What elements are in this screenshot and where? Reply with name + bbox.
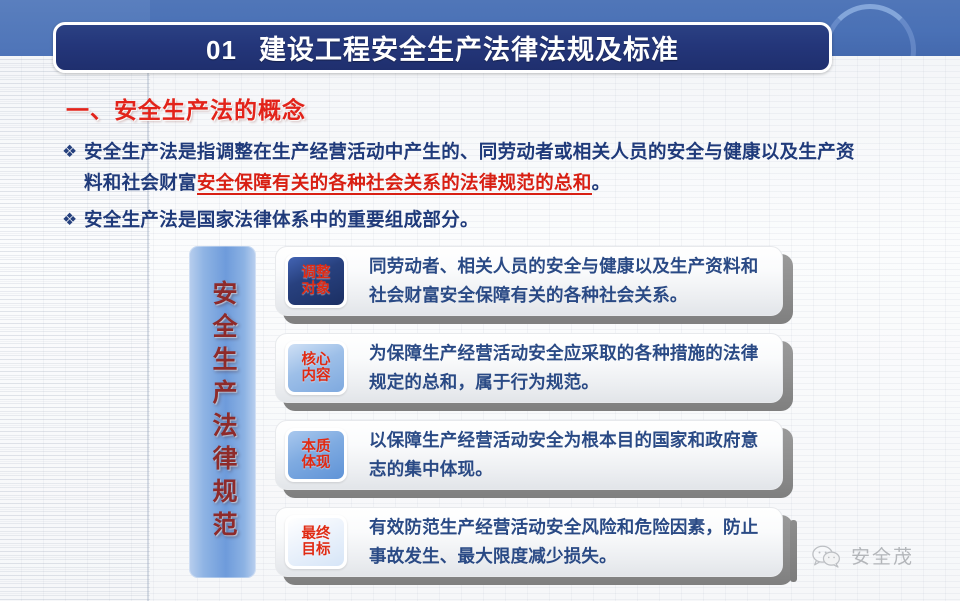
right-edge-strip — [790, 520, 797, 582]
row-badge-line2: 目标 — [302, 542, 331, 558]
row-badge: 调整 对象 — [288, 257, 344, 305]
page-title: 01建设工程安全生产法律法规及标准 — [206, 28, 679, 67]
bullet-text: 安全生产法是指调整在生产经营活动中产生的、同劳动者或相关人员的安全与健康以及生产… — [84, 136, 862, 198]
bullet-highlight-text: 安全保障有关的各种社会关系的法律规范的总和 — [197, 172, 592, 195]
row-description: 有效防范生产经营活动安全风险和危险因素，防止事故发生、最大限度减少损失。 — [347, 513, 782, 571]
row-badge-line1: 本质 — [302, 439, 331, 455]
diagram-row-list: 调整 对象 同劳动者、相关人员的安全与健康以及生产资料和社会财富安全保障有关的各… — [275, 246, 795, 594]
row-badge-line2: 对象 — [302, 281, 331, 297]
vertical-category-label: 安全生产法律规范 — [210, 280, 235, 544]
bullet-list: ❖ 安全生产法是指调整在生产经营活动中产生的、同劳动者或相关人员的安全与健康以及… — [62, 136, 862, 241]
row-card: 调整 对象 同劳动者、相关人员的安全与健康以及生产资料和社会财富安全保障有关的各… — [275, 246, 783, 316]
row-description: 为保障生产经营活动安全应采取的各种措施的法律规定的总和，属于行为规范。 — [347, 339, 782, 397]
row-description: 同劳动者、相关人员的安全与健康以及生产资料和社会财富安全保障有关的各种社会关系。 — [347, 252, 782, 310]
slide-canvas: 01建设工程安全生产法律法规及标准 一、安全生产法的概念 ❖ 安全生产法是指调整… — [0, 0, 960, 601]
bullet-tail-text: 。 — [592, 172, 611, 193]
row-badge-frame: 调整 对象 — [285, 254, 347, 308]
slide-title-bar: 01建设工程安全生产法律法规及标准 — [53, 22, 832, 73]
title-label: 建设工程安全生产法律法规及标准 — [259, 35, 679, 65]
row-badge-line1: 调整 — [302, 265, 331, 281]
row-badge: 最终 目标 — [288, 518, 344, 566]
bullet-item: ❖ 安全生产法是国家法律体系中的重要组成部分。 — [62, 204, 862, 235]
row-badge-frame: 最终 目标 — [285, 515, 347, 569]
vertical-category-bar: 安全生产法律规范 — [189, 246, 256, 578]
row-badge: 核心 内容 — [288, 344, 344, 392]
row-badge-line2: 体现 — [302, 455, 331, 471]
title-number: 01 — [206, 35, 237, 65]
row-badge-frame: 本质 体现 — [285, 428, 347, 482]
bullet-text: 安全生产法是国家法律体系中的重要组成部分。 — [84, 204, 862, 235]
row-badge-frame: 核心 内容 — [285, 341, 347, 395]
arc-decoration-icon — [824, 4, 916, 56]
diamond-bullet-icon: ❖ — [62, 204, 84, 235]
bullet-item: ❖ 安全生产法是指调整在生产经营活动中产生的、同劳动者或相关人员的安全与健康以及… — [62, 136, 862, 198]
diagram-row: 核心 内容 为保障生产经营活动安全应采取的各种措施的法律规定的总和，属于行为规范… — [275, 333, 795, 405]
row-description: 以保障生产经营活动安全为根本目的国家和政府意志的集中体现。 — [347, 426, 782, 484]
diagram-row: 本质 体现 以保障生产经营活动安全为根本目的国家和政府意志的集中体现。 — [275, 420, 795, 492]
diagram-row: 调整 对象 同劳动者、相关人员的安全与健康以及生产资料和社会财富安全保障有关的各… — [275, 246, 795, 318]
wechat-icon — [812, 544, 842, 568]
diagram-row: 最终 目标 有效防范生产经营活动安全风险和危险因素，防止事故发生、最大限度减少损… — [275, 507, 795, 579]
bullet-lead-text: 安全生产法是国家法律体系中的重要组成部分。 — [84, 209, 479, 230]
row-card: 本质 体现 以保障生产经营活动安全为根本目的国家和政府意志的集中体现。 — [275, 420, 783, 490]
row-card: 核心 内容 为保障生产经营活动安全应采取的各种措施的法律规定的总和，属于行为规范… — [275, 333, 783, 403]
watermark-label: 安全茂 — [851, 542, 914, 569]
diamond-bullet-icon: ❖ — [62, 136, 84, 167]
row-badge-line1: 最终 — [302, 526, 331, 542]
watermark: 安全茂 — [812, 542, 914, 569]
row-badge: 本质 体现 — [288, 431, 344, 479]
section-heading: 一、安全生产法的概念 — [66, 91, 306, 125]
row-card: 最终 目标 有效防范生产经营活动安全风险和危险因素，防止事故发生、最大限度减少损… — [275, 507, 783, 577]
row-badge-line2: 内容 — [302, 368, 331, 384]
row-badge-line1: 核心 — [302, 352, 331, 368]
